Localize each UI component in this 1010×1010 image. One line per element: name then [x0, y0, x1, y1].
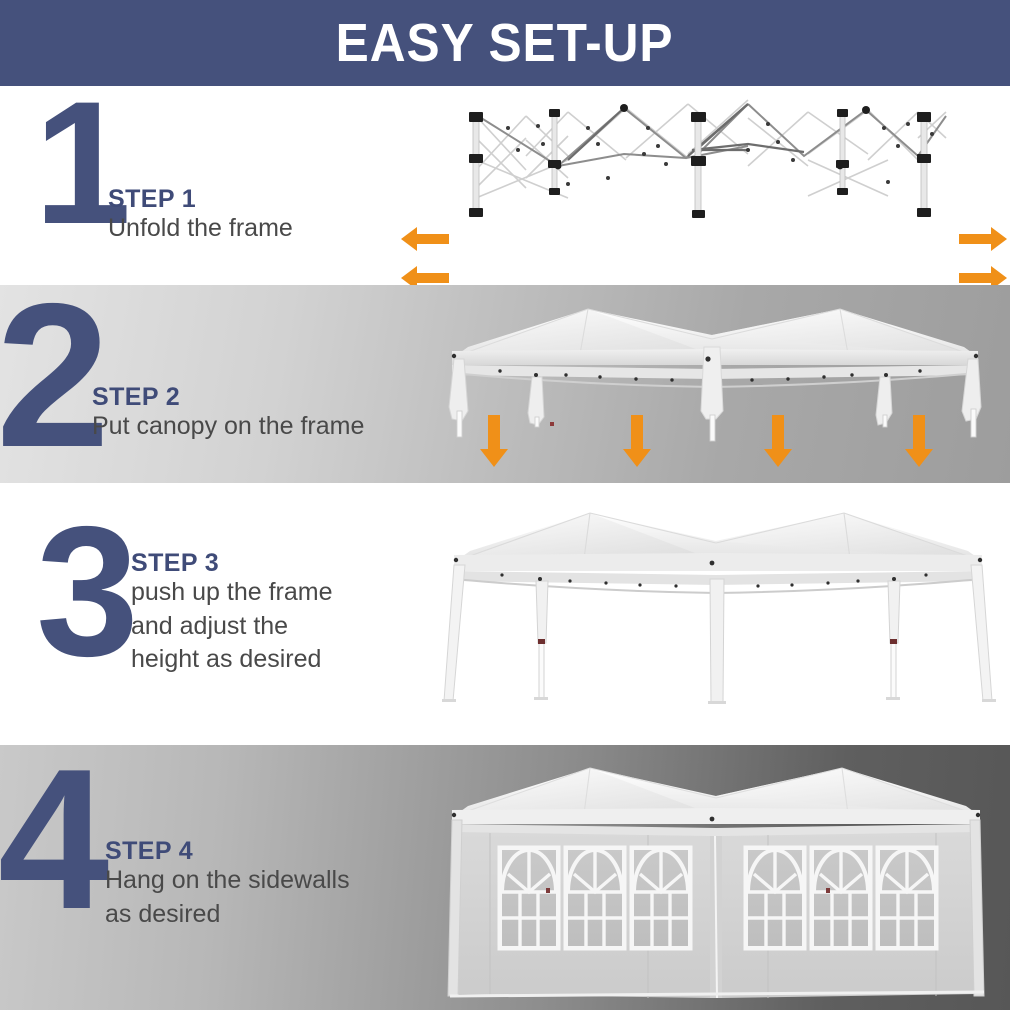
- step-1-description-line-1: Unfold the frame: [108, 212, 293, 246]
- arrow-down-icon-3: [762, 413, 794, 469]
- step-3-label: STEP 3: [131, 550, 333, 576]
- page-title: EASY SET-UP: [336, 16, 674, 70]
- gazebo-sidewalls-illustration: [438, 760, 998, 1010]
- step-2-label: STEP 2: [92, 384, 364, 410]
- step-2-description-line-1: Put canopy on the frame: [92, 410, 364, 444]
- step-2-text-block: STEP 2 Put canopy on the frame: [92, 384, 364, 444]
- arrow-down-icon-2: [621, 413, 653, 469]
- arrow-down-icon-4: [903, 413, 935, 469]
- infographic-page: EASY SET-UP: [0, 0, 1010, 1010]
- folded-frame-illustration: [448, 98, 958, 248]
- step-3-description-line-1: push up the frame: [131, 576, 333, 610]
- step-3-text-block: STEP 3 push up the frame and adjust the …: [131, 550, 333, 677]
- gazebo-extended-illustration: [440, 503, 1000, 728]
- step-4-label: STEP 4: [105, 838, 350, 864]
- step-1-label: STEP 1: [108, 186, 293, 212]
- step-3-description-line-2: and adjust the: [131, 610, 333, 644]
- arrow-left-icon-1: [399, 225, 451, 253]
- step-4-description-line-2: as desired: [105, 898, 350, 932]
- step-1-text-block: STEP 1 Unfold the frame: [108, 186, 293, 246]
- step-number-4: 4: [0, 762, 109, 918]
- step-number-3: 3: [36, 520, 139, 664]
- step-4-text-block: STEP 4 Hang on the sidewalls as desired: [105, 838, 350, 931]
- step-3-description-line-3: height as desired: [131, 643, 333, 677]
- arrow-down-icon-1: [478, 413, 510, 469]
- header-banner: EASY SET-UP: [0, 0, 1010, 86]
- step-4-description-line-1: Hang on the sidewalls: [105, 864, 350, 898]
- arrow-right-icon-1: [957, 225, 1009, 253]
